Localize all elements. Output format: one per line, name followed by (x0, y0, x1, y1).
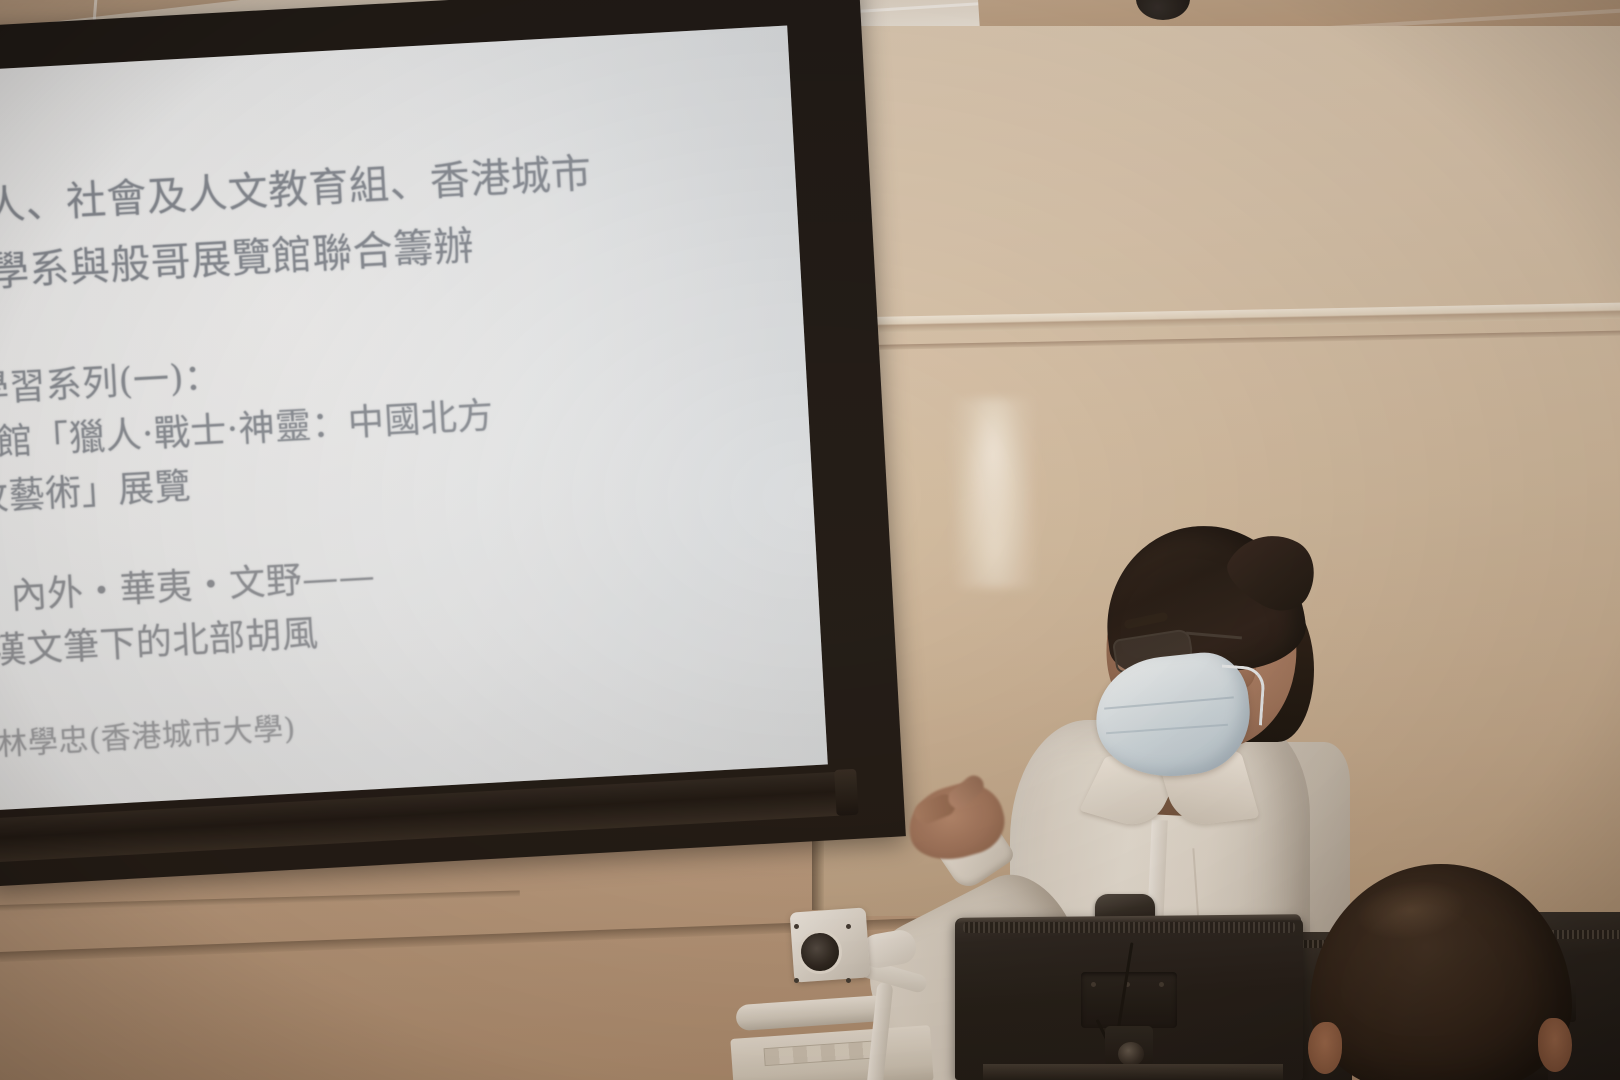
monitor-vent (963, 922, 1295, 933)
audience-ear (1308, 1022, 1342, 1074)
audience-ear (1538, 1018, 1572, 1072)
lecture-hall-photo: 展處個人、社會及人文教育組、香港城市 及歷史學系與般哥展覽館聯合籌辦 物館學習系… (0, 0, 1620, 1080)
slide-series-line-3: 游牧藝術」展覽 (0, 457, 192, 523)
mask-ear-loop (1218, 665, 1266, 726)
document-camera (736, 908, 936, 1080)
computer-monitor-primary (955, 900, 1305, 1080)
monitor-vesa-holes (1091, 982, 1096, 987)
monitor-base-shelf (983, 1064, 1283, 1080)
document-camera-light-bar (735, 995, 886, 1031)
document-camera-screws (794, 924, 799, 929)
slide-content: 展處個人、社會及人文教育組、香港城市 及歷史學系與般哥展覽館聯合籌辦 物館學習系… (0, 25, 828, 810)
monitor-stand-knob (1118, 1042, 1144, 1066)
projection-screen-surface: 展處個人、社會及人文教育組、香港城市 及歷史學系與般哥展覽館聯合籌辦 物館學習系… (0, 25, 828, 810)
slide-organizer-line-2: 及歷史學系與般哥展覽館聯合籌辦 (0, 225, 475, 301)
slide-speaker-line: 林學忠(香港城市大學) (0, 704, 297, 764)
projection-screen-end-cap (834, 769, 858, 816)
slide-organizer-line-1: 展處個人、社會及人文教育組、香港城市 (0, 152, 593, 235)
projection-screen: 展處個人、社會及人文教育組、香港城市 及歷史學系與般哥展覽館聯合籌辦 物館學習系… (0, 0, 906, 887)
